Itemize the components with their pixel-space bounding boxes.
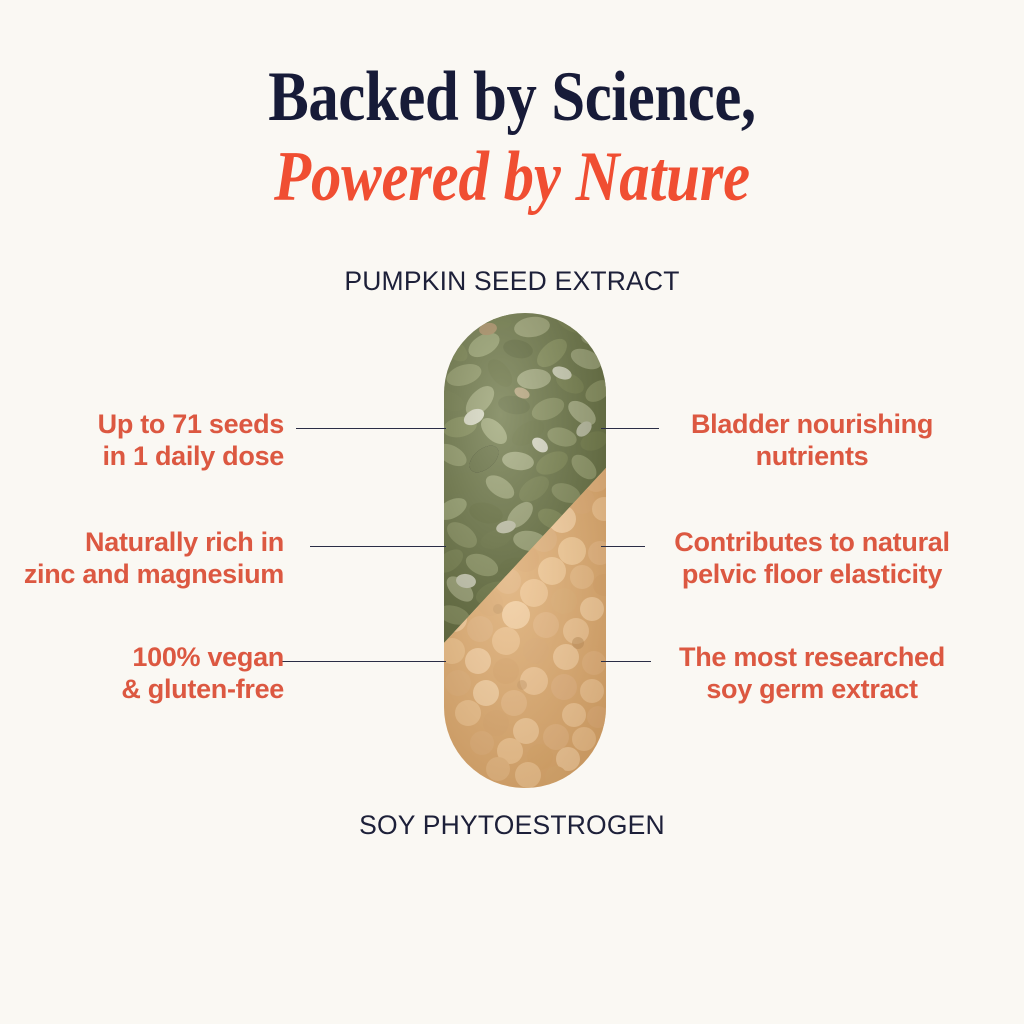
callout-left-1: Up to 71 seeds in 1 daily dose bbox=[98, 409, 284, 472]
callout-left-3-line-2: & gluten-free bbox=[121, 674, 284, 706]
leader-line-right-2 bbox=[601, 546, 645, 547]
capsule-illustration bbox=[444, 313, 606, 788]
callout-right-1-line-1: Bladder nourishing bbox=[657, 409, 967, 441]
callout-left-2-line-1: Naturally rich in bbox=[24, 527, 284, 559]
leader-line-left-1 bbox=[296, 428, 446, 429]
caption-soy-phytoestrogen: SOY PHYTOESTROGEN bbox=[0, 810, 1024, 841]
callout-left-1-line-1: Up to 71 seeds bbox=[98, 409, 284, 441]
callout-left-1-line-2: in 1 daily dose bbox=[98, 441, 284, 473]
leader-line-left-3 bbox=[282, 661, 446, 662]
callout-right-3: The most researched soy germ extract bbox=[657, 642, 967, 705]
headline-line-1: Backed by Science, bbox=[10, 62, 1014, 133]
callout-right-1: Bladder nourishing nutrients bbox=[657, 409, 967, 472]
infographic-poster: Backed by Science, Powered by Nature PUM… bbox=[0, 0, 1024, 1024]
headline-line-2: Powered by Nature bbox=[10, 142, 1014, 213]
callout-right-3-line-2: soy germ extract bbox=[657, 674, 967, 706]
callout-right-2-line-2: pelvic floor elasticity bbox=[657, 559, 967, 591]
caption-pumpkin-seed-extract: PUMPKIN SEED EXTRACT bbox=[0, 266, 1024, 297]
callout-left-3-line-1: 100% vegan bbox=[121, 642, 284, 674]
callout-left-3: 100% vegan & gluten-free bbox=[121, 642, 284, 705]
leader-line-right-1 bbox=[601, 428, 659, 429]
callout-right-2-line-1: Contributes to natural bbox=[657, 527, 967, 559]
page-title: Backed by Science, Powered by Nature bbox=[0, 62, 1024, 204]
callout-right-3-line-1: The most researched bbox=[657, 642, 967, 674]
leader-line-right-3 bbox=[601, 661, 651, 662]
callout-right-1-line-2: nutrients bbox=[657, 441, 967, 473]
callout-right-2: Contributes to natural pelvic floor elas… bbox=[657, 527, 967, 590]
leader-line-left-2 bbox=[310, 546, 446, 547]
callout-left-2: Naturally rich in zinc and magnesium bbox=[24, 527, 284, 590]
callout-left-2-line-2: zinc and magnesium bbox=[24, 559, 284, 591]
